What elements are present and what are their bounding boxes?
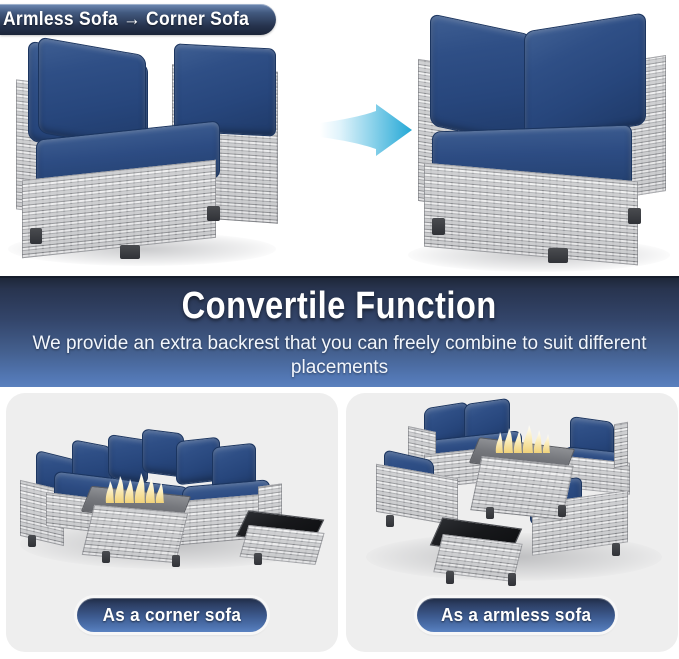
armless-leg-front (120, 245, 140, 259)
banner-subtitle: We provide an extra backrest that you ca… (30, 332, 649, 380)
armless-leg-left (30, 228, 42, 244)
armless-leg-right (207, 206, 220, 221)
fire-pit-flames (102, 471, 174, 503)
caption-badge-armless: As a armless sofa (417, 598, 615, 632)
fire-pit-leg-2 (172, 555, 180, 567)
corner-leg-front (548, 248, 568, 263)
corner-backrest-cushion-left (430, 13, 532, 147)
chair-side-frame (614, 422, 628, 468)
title-badge-label: Armless Sofa → Corner Sofa (3, 10, 249, 29)
corner-backrest-cushion-right (524, 12, 646, 143)
fire-pit-leg-1 (486, 507, 494, 519)
sectional-leg-1 (28, 535, 36, 547)
corner-leg-right (628, 208, 641, 224)
banner-title: Convertile Function (0, 284, 679, 328)
fire-pit-leg-1 (102, 551, 110, 563)
armless-layout-illustration (346, 393, 678, 598)
glass-table-leg-2 (508, 573, 516, 586)
corner-leg-left (432, 218, 445, 235)
corner-sofa-layout-panel: As a corner sofa (6, 393, 338, 652)
corner-layout-illustration (6, 393, 338, 598)
glass-table-leg-1 (254, 553, 262, 565)
feature-banner: Convertile Function We provide an extra … (0, 276, 679, 387)
armless-sofa-layout-panel: As a armless sofa (346, 393, 678, 652)
caption-label-armless: As a armless sofa (441, 606, 591, 624)
fire-pit-flames (492, 423, 558, 453)
glass-table-leg-1 (446, 571, 454, 584)
chair-leg-2 (612, 543, 620, 556)
chair-leg-1 (386, 515, 394, 527)
top-photo-section: Armless Sofa → Corner Sofa (0, 0, 679, 276)
caption-badge-corner: As a corner sofa (77, 598, 267, 632)
conversion-arrow (318, 103, 414, 157)
title-badge: Armless Sofa → Corner Sofa (0, 4, 276, 35)
product-infographic: Armless Sofa → Corner Sofa Convertile Fu… (0, 0, 679, 659)
caption-label-corner: As a corner sofa (103, 606, 242, 624)
fire-pit-leg-2 (558, 505, 566, 517)
